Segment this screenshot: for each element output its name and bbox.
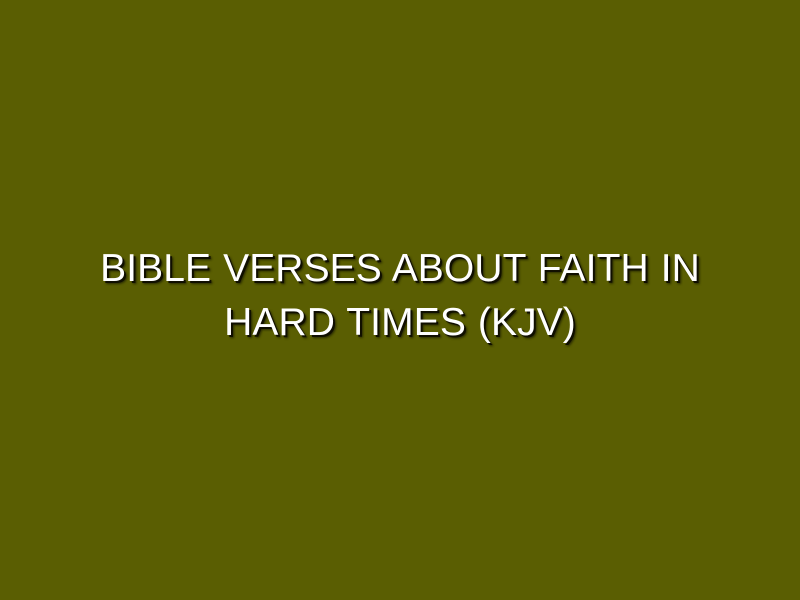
- page-title: BIBLE VERSES ABOUT FAITH IN HARD TIMES (…: [80, 242, 720, 350]
- banner-background: BIBLE VERSES ABOUT FAITH IN HARD TIMES (…: [0, 0, 800, 600]
- title-block: BIBLE VERSES ABOUT FAITH IN HARD TIMES (…: [80, 242, 720, 350]
